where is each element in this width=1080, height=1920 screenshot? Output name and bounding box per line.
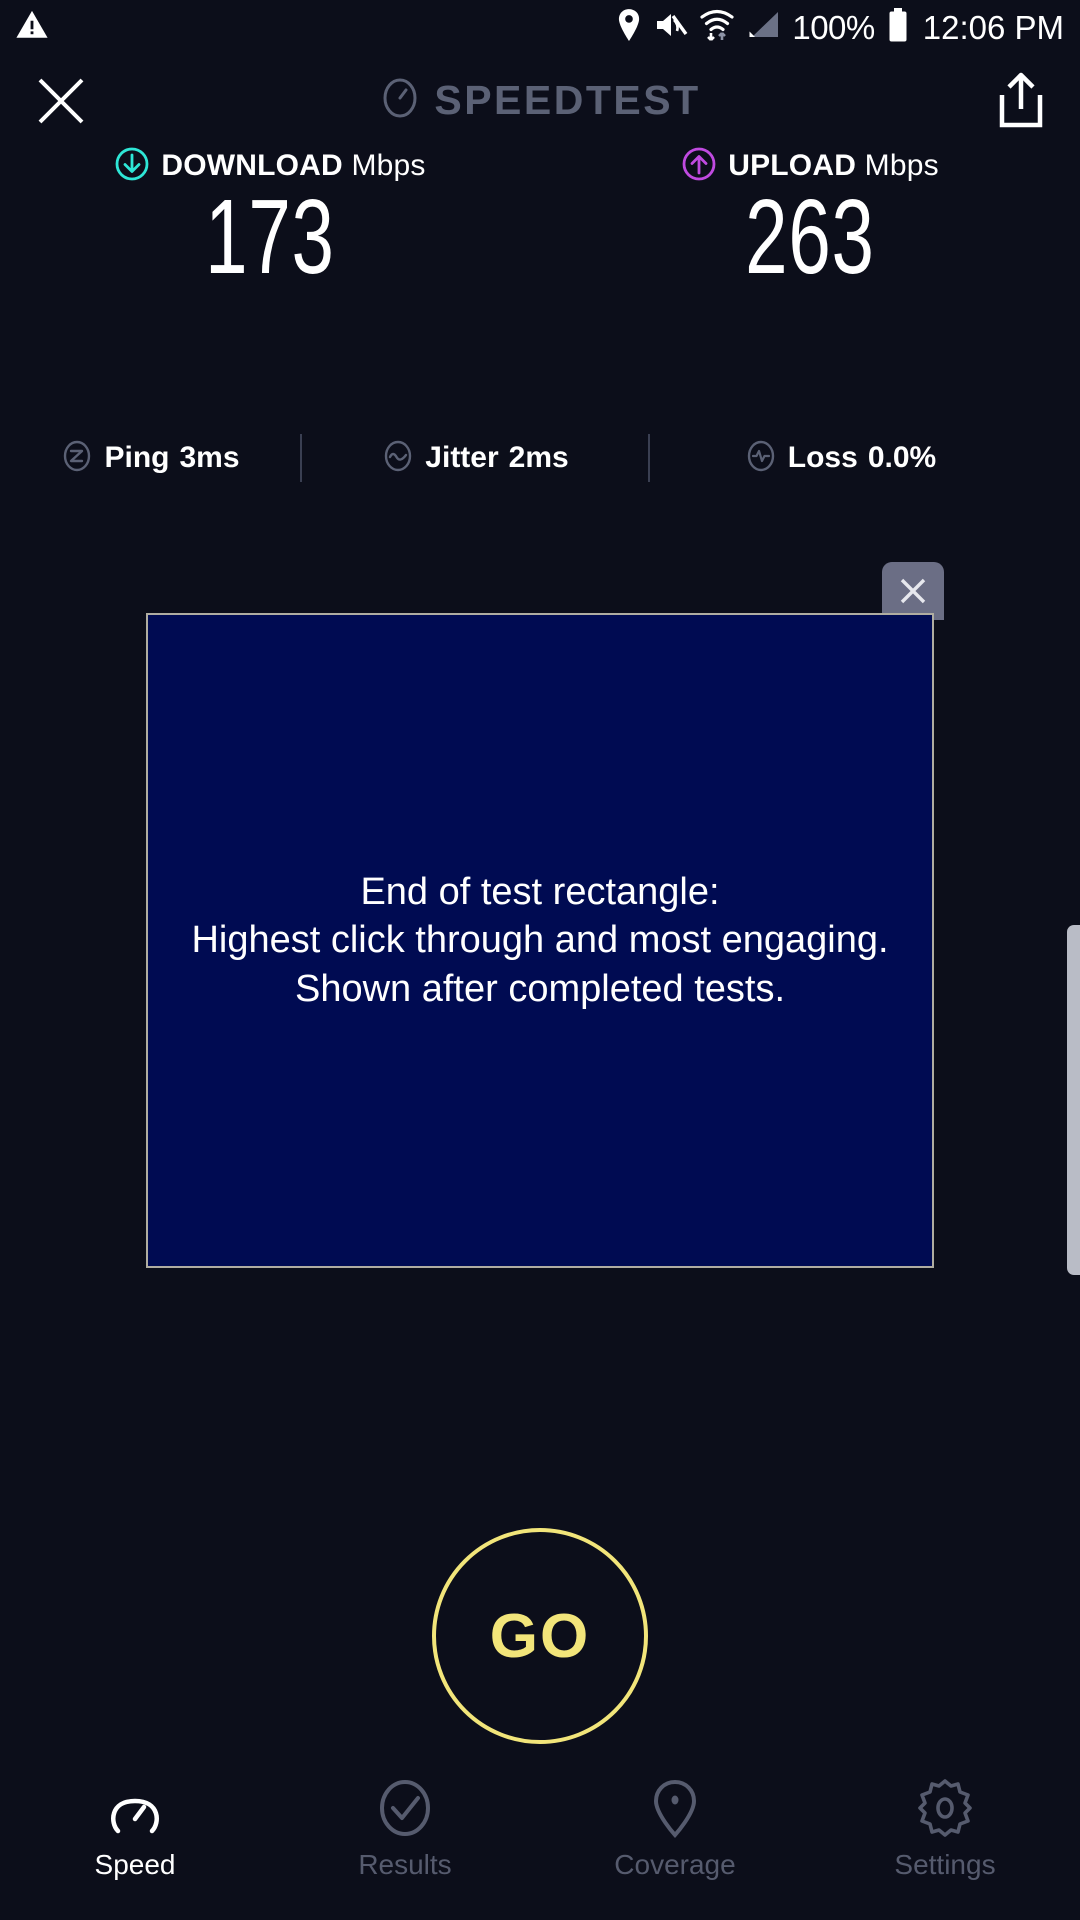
- upload-value: 263: [745, 183, 874, 291]
- metric-loss-name: Loss: [788, 441, 858, 475]
- nav-item-results[interactable]: Results: [270, 1765, 540, 1920]
- arrow-up-circle-icon: [681, 146, 717, 187]
- status-bar-right: 100% 12:06 PM: [616, 0, 1064, 55]
- nav-item-coverage[interactable]: Coverage: [540, 1765, 810, 1920]
- metrics-row: Ping 3ms Jitter 2ms Loss 0.0%: [0, 428, 1080, 488]
- wifi-icon: [700, 7, 734, 48]
- jitter-icon: [381, 439, 415, 478]
- download-value: 173: [205, 183, 334, 291]
- brand: SPEEDTEST: [0, 55, 1080, 145]
- advertisement-banner[interactable]: End of test rectangle: Highest click thr…: [146, 613, 934, 1268]
- metric-jitter-name: Jitter: [425, 441, 498, 475]
- metric-ping: Ping 3ms: [0, 439, 300, 478]
- battery-full-icon: [887, 7, 909, 48]
- metric-loss-value: 0.0%: [868, 441, 936, 475]
- nav-label-results: Results: [358, 1849, 451, 1881]
- metric-jitter-value: 2ms: [509, 441, 569, 475]
- status-bar: 100% 12:06 PM: [0, 0, 1080, 55]
- nav-label-speed: Speed: [95, 1849, 176, 1881]
- cellular-signal-icon: [746, 10, 780, 45]
- download-result: DOWNLOAD Mbps 173: [0, 145, 540, 291]
- speedometer-icon: [104, 1777, 166, 1839]
- mute-icon: [654, 10, 688, 45]
- bottom-nav: Speed Results Coverage Settings: [0, 1765, 1080, 1920]
- loss-icon: [744, 439, 778, 478]
- check-circle-icon: [374, 1777, 436, 1839]
- speed-row: DOWNLOAD Mbps 173 UPLOAD Mbps 263: [0, 145, 1080, 291]
- go-button-label: GO: [490, 1601, 590, 1672]
- nav-item-settings[interactable]: Settings: [810, 1765, 1080, 1920]
- ad-close-button[interactable]: [882, 562, 944, 620]
- upload-result: UPLOAD Mbps 263: [540, 145, 1080, 291]
- metric-loss: Loss 0.0%: [650, 439, 1030, 478]
- battery-percent: 100%: [792, 0, 874, 55]
- app-header: SPEEDTEST: [0, 55, 1080, 145]
- status-time: 12:06 PM: [923, 0, 1064, 55]
- map-pin-icon: [644, 1777, 706, 1839]
- scrollbar[interactable]: [1067, 925, 1080, 1275]
- results-block: DOWNLOAD Mbps 173 UPLOAD Mbps 263: [0, 145, 1080, 291]
- location-icon: [616, 8, 642, 47]
- metric-jitter: Jitter 2ms: [302, 439, 648, 478]
- nav-label-settings: Settings: [894, 1849, 995, 1881]
- gear-icon: [914, 1777, 976, 1839]
- metric-ping-name: Ping: [104, 441, 169, 475]
- nav-item-speed[interactable]: Speed: [0, 1765, 270, 1920]
- metric-ping-value: 3ms: [179, 441, 239, 475]
- status-bar-left: [14, 8, 50, 47]
- nav-label-coverage: Coverage: [614, 1849, 735, 1881]
- go-button[interactable]: GO: [432, 1528, 648, 1744]
- warning-triangle-icon: [14, 8, 50, 47]
- ad-text: End of test rectangle: Highest click thr…: [191, 868, 888, 1014]
- arrow-down-circle-icon: [114, 146, 150, 187]
- ping-icon: [60, 439, 94, 478]
- page-title: SPEEDTEST: [434, 77, 700, 124]
- share-icon[interactable]: [994, 71, 1048, 131]
- speedometer-icon: [379, 77, 421, 124]
